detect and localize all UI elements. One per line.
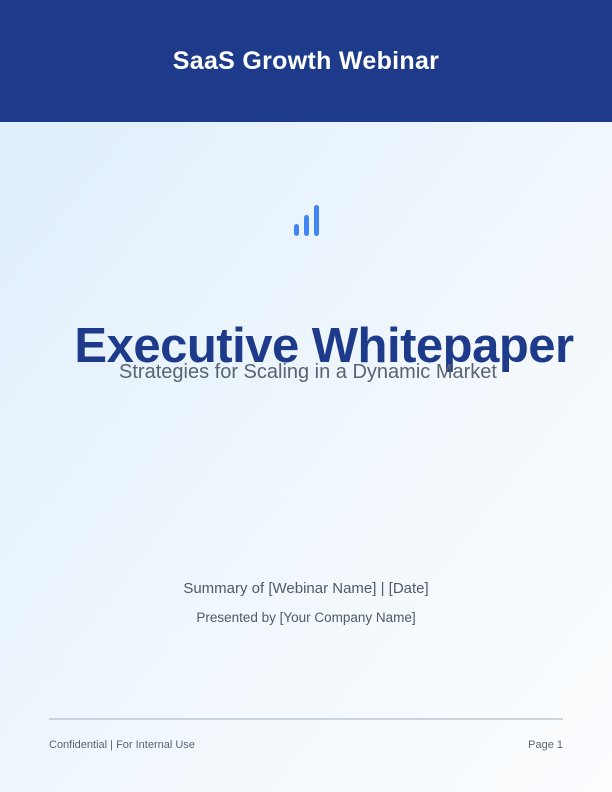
page-header-band: SaaS Growth Webinar xyxy=(0,0,612,122)
meta-block: Summary of [Webinar Name] | [Date] Prese… xyxy=(0,578,612,628)
bar-chart-icon-bar-1 xyxy=(294,224,299,236)
bar-chart-icon-bar-3 xyxy=(314,205,319,236)
presenter-line: Presented by [Your Company Name] xyxy=(0,608,612,628)
page-footer: Confidential | For Internal Use Page 1 xyxy=(49,718,563,751)
footer-divider xyxy=(49,718,563,720)
footer-row: Confidential | For Internal Use Page 1 xyxy=(49,739,563,751)
footer-page-number: Page 1 xyxy=(528,739,563,751)
bar-chart-icon xyxy=(294,204,319,236)
document-page: SaaS Growth Webinar Executive Whitepaper… xyxy=(0,0,612,792)
hero-icon-container xyxy=(0,204,612,236)
header-title: SaaS Growth Webinar xyxy=(173,49,439,74)
title-block: Executive Whitepaper Strategies for Scal… xyxy=(0,318,612,384)
summary-line: Summary of [Webinar Name] | [Date] xyxy=(0,578,612,601)
bar-chart-icon-bar-2 xyxy=(304,215,309,236)
footer-confidentiality-text: Confidential | For Internal Use xyxy=(49,739,195,751)
